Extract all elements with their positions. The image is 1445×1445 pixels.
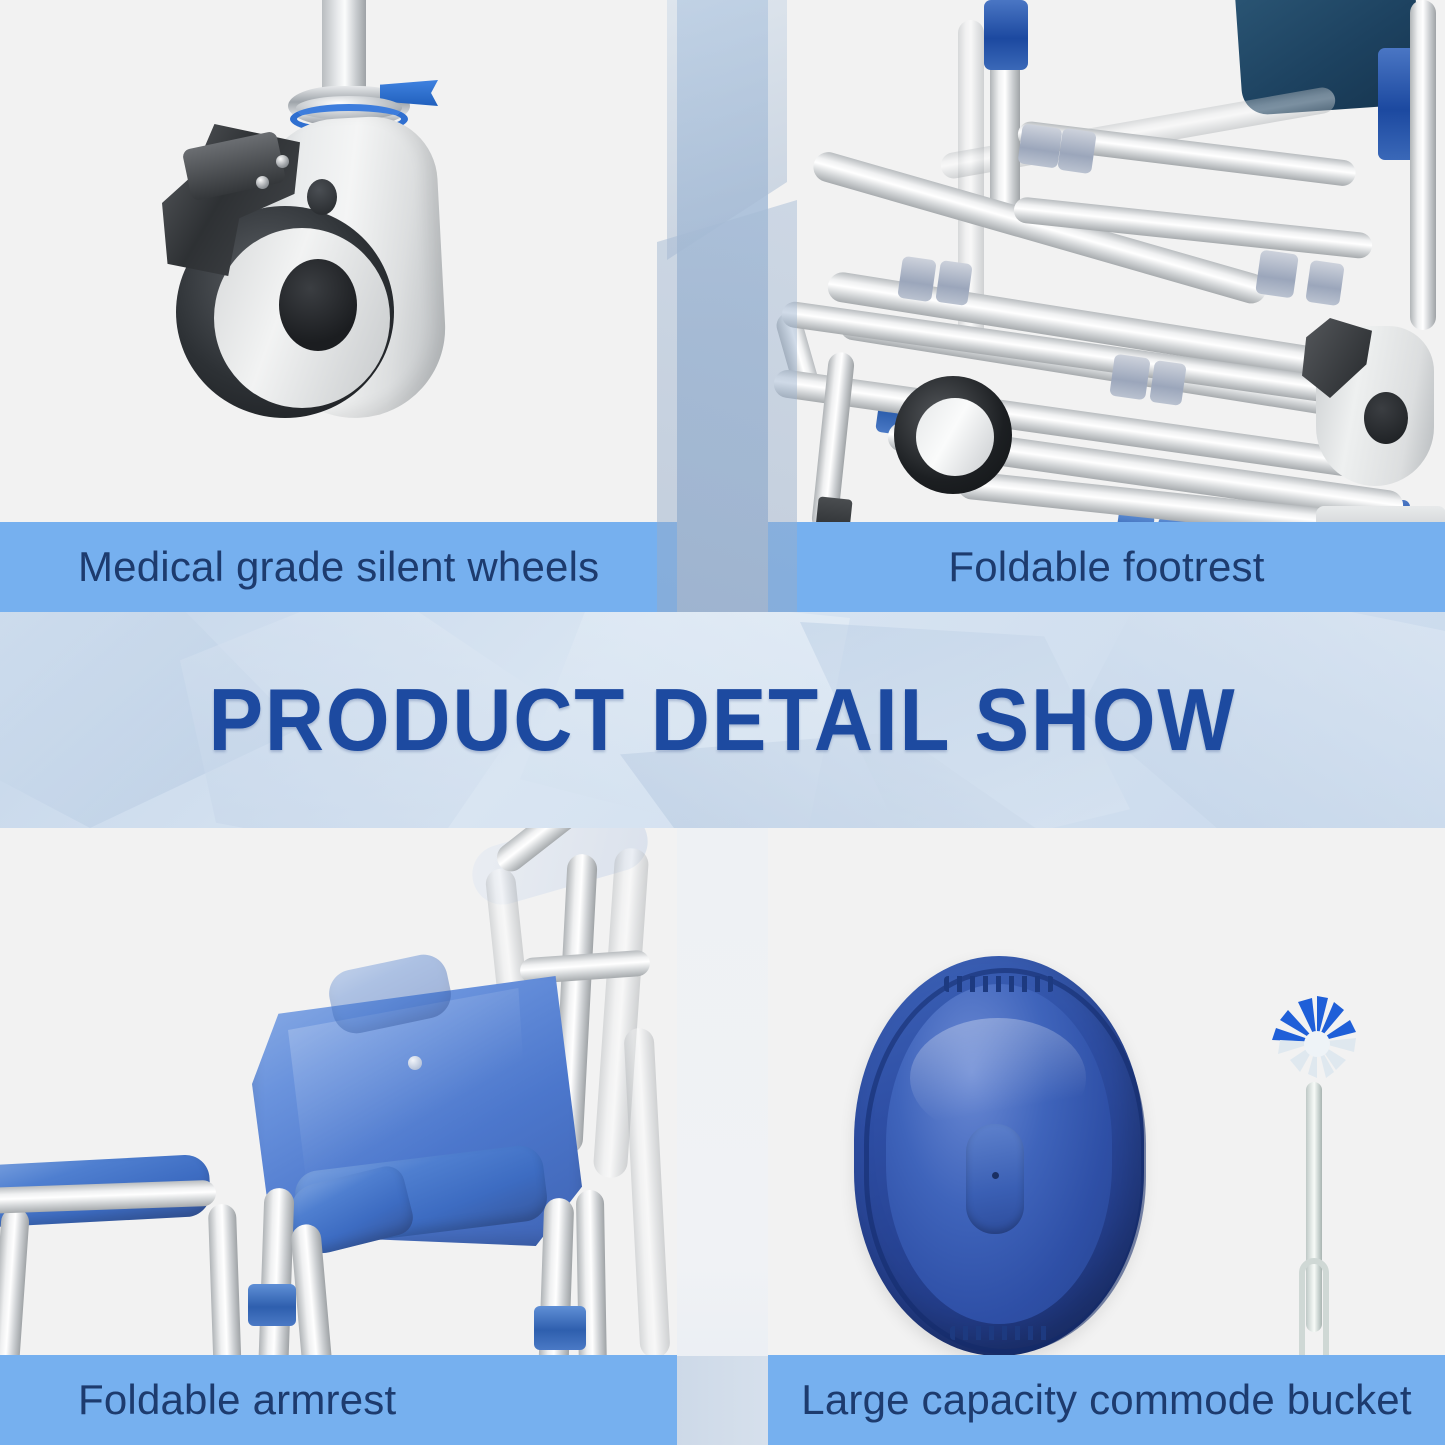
caption-bucket: Large capacity commode bucket — [768, 1376, 1445, 1424]
collar-grey-8 — [1149, 360, 1187, 406]
caption-bar-wheels: Medical grade silent wheels — [0, 522, 677, 612]
collar-grey-5 — [897, 256, 937, 302]
collar-grey-7 — [1109, 354, 1150, 401]
height-clamp-left — [248, 1284, 296, 1326]
caster-screw-icon — [256, 176, 269, 189]
product-detail-infographic: Medical grade silent wheels — [0, 0, 1445, 1445]
collar-grey-1 — [1017, 123, 1062, 168]
bucket-vent-slots-top — [944, 976, 1054, 992]
bucket-vent-slots-bottom — [950, 1326, 1050, 1340]
photo-foldable-armrest — [0, 828, 677, 1445]
caption-footrest: Foldable footrest — [768, 543, 1445, 591]
caster-stem-icon — [322, 0, 366, 100]
frame-post-ghost-far — [623, 1027, 670, 1358]
banner-product-detail-show: PRODUCT DETAIL SHOW — [0, 612, 1445, 828]
gutter-bottom-strip — [677, 1356, 768, 1445]
knob-pin-icon — [992, 1172, 999, 1179]
panel-footrest: Foldable footrest — [768, 0, 1445, 612]
panel-gutter-top — [677, 0, 768, 612]
chair-rear-post — [1410, 0, 1436, 330]
right-caster-hub — [1364, 392, 1408, 444]
caster-small-cap — [307, 179, 337, 215]
panel-bucket: Large capacity commode bucket — [768, 828, 1445, 1445]
collar-grey-6 — [935, 260, 973, 306]
clamp-top-left — [984, 0, 1028, 70]
caption-bar-armrest: Foldable armrest — [0, 1355, 677, 1445]
collar-grey-2 — [1057, 128, 1097, 174]
caption-wheels: Medical grade silent wheels — [0, 543, 599, 591]
panel-gutter-bottom — [677, 828, 768, 1445]
caption-armrest: Foldable armrest — [0, 1376, 396, 1424]
photo-commode-bucket — [768, 828, 1445, 1445]
panel-wheels: Medical grade silent wheels — [0, 0, 677, 612]
brush-bristle-head — [1268, 996, 1366, 1088]
caption-bar-footrest: Foldable footrest — [768, 522, 1445, 612]
rear-caster-hub — [916, 398, 994, 476]
caster-screw-icon — [276, 155, 289, 168]
collar-grey-3 — [1255, 250, 1299, 299]
photo-caster-wheel — [0, 0, 677, 612]
caption-bar-bucket: Large capacity commode bucket — [768, 1355, 1445, 1445]
polygon-shape — [657, 200, 797, 620]
panel-armrest: Foldable armrest — [0, 828, 677, 1445]
caster-hub-center — [279, 259, 357, 351]
commode-bucket-knob — [966, 1124, 1024, 1234]
page-title: PRODUCT DETAIL SHOW — [51, 612, 1395, 828]
collar-grey-4 — [1305, 260, 1345, 306]
bristle-icon — [1268, 996, 1366, 1088]
height-clamp-right — [534, 1306, 586, 1350]
photo-foldable-footrest — [768, 0, 1445, 612]
lid-highlight — [910, 1018, 1086, 1138]
backrest-screw-icon — [408, 1056, 422, 1070]
